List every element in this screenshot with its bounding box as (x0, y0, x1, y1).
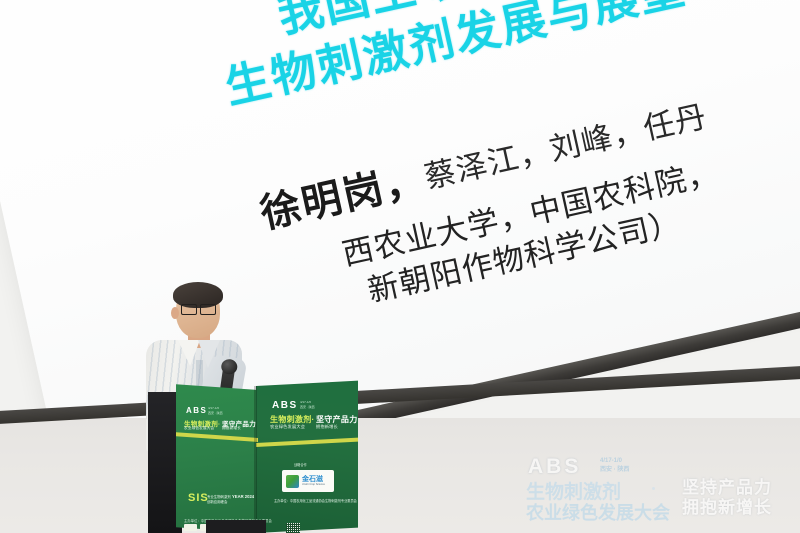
watermark-date-line-1: 4/17-1/0 (600, 457, 629, 466)
podium-brand-right-sub-2: 西安 · 陕西 (300, 405, 315, 409)
podium-tag (184, 524, 197, 531)
watermark-cn-line-2: 农业绿色发展大会 (526, 499, 670, 525)
sponsor-logo-icon (286, 475, 299, 488)
watermark-dates: 4/17-1/0 西安 · 陕西 (600, 457, 629, 474)
event-watermark: ABS 4/17-1/0 西安 · 陕西 生物刺激剂 农业绿色发展大会 坚持产品… (524, 451, 786, 523)
watermark-left-block: ABS 4/17-1/0 西安 · 陕西 生物刺激剂 农业绿色发展大会 (524, 453, 674, 523)
podium-cn-right2-left-panel: 拥抱新增长 (222, 426, 241, 431)
podium-brand-left-sub-1: 4/17-1/0 (208, 406, 219, 410)
podium-stand (206, 520, 266, 533)
podium-brand-left-sub-2: 西安 · 陕西 (208, 411, 223, 415)
sponsor-name: 金石滋 (302, 476, 325, 483)
lectern-podium: ABS 4/17-1/0 西安 · 陕西 生物刺激剂· 农业绿色发展大会 坚守产… (176, 386, 358, 533)
podium-brand-right: ABS (272, 400, 298, 411)
podium-cn-sub-left: 农业绿色发展大会 (184, 426, 214, 431)
speaker-ear (171, 307, 179, 319)
podium-corner-edge (254, 386, 257, 533)
podium-date-label: YEAR 2024 (232, 494, 254, 499)
podium-cn-sub-right: 农业绿色发展大会 (270, 424, 305, 430)
watermark-slogan-line-1: 坚持产品力 (682, 478, 772, 499)
sponsor-subtitle: Jinshi Crop Science (302, 483, 325, 486)
sponsor-text-block: 金石滋 Jinshi Crop Science (302, 476, 325, 486)
screenshot-stage: 生物刺激剂与农业绿色发展，西安，2024.04.18 我国土壤调理剂与 生物刺激… (0, 0, 800, 533)
podium-sis-sub: 专业生物刺激剂 创新应用峰会 (207, 495, 231, 505)
podium-brand-left: ABS (186, 406, 207, 415)
podium-sis-mark: SIS (188, 492, 209, 504)
watermark-slogan: 坚持产品力 拥抱新增长 (682, 478, 772, 523)
watermark-date-line-2: 西安 · 陕西 (600, 466, 629, 475)
podium-brand-right-sub-1: 4/17-1/0 (300, 400, 311, 404)
podium-sponsor-footer: 主办单位：中国农用化工品流通协会生物刺激剂专业委员会 (274, 498, 357, 503)
qr-code-icon (286, 523, 300, 533)
watermark-slogan-line-2: 拥抱新增长 (682, 498, 772, 519)
podium-sis-sub-line-2: 创新应用峰会 (207, 500, 231, 505)
podium-cn-right2-right-panel: 拥抱新增长 (316, 424, 338, 430)
watermark-brand: ABS (528, 455, 581, 479)
podium-sponsor-badge: 金石滋 Jinshi Crop Science (282, 470, 334, 492)
glasses-icon (181, 304, 217, 314)
watermark-separator-dot (652, 487, 655, 490)
podium-sponsor-caption: 战略合作 (294, 462, 307, 467)
